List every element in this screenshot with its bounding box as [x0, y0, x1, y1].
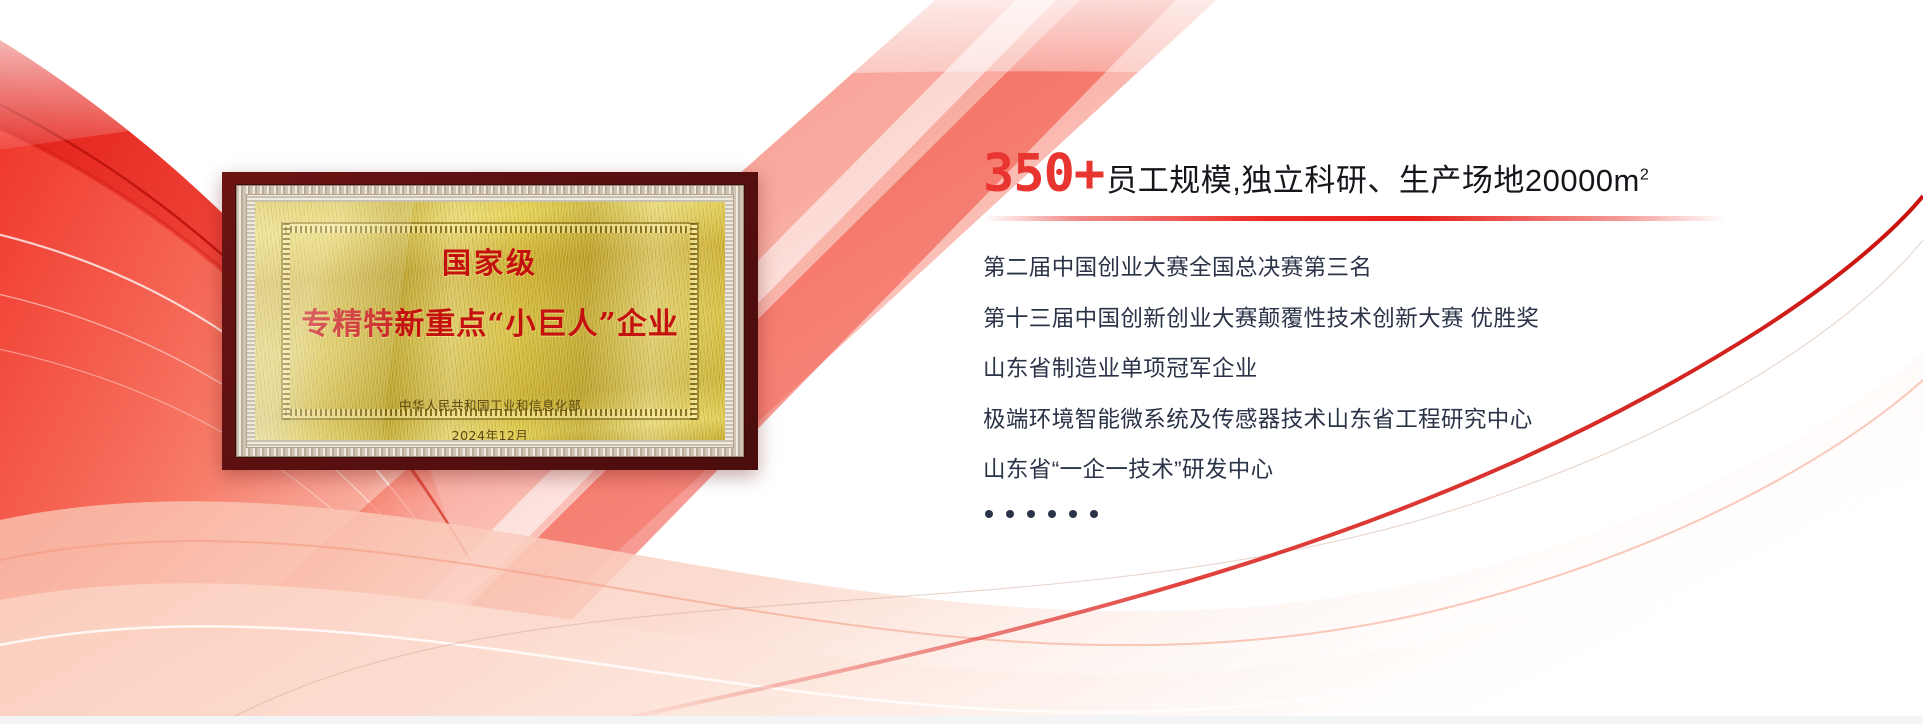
list-item: 第十三届中国创新创业大赛颠覆性技术创新大赛 优胜奖 [983, 308, 1843, 331]
plaque-gold-plate: 国家级 专精特新重点“小巨人”企业 中华人民共和国工业和信息化部 2024年12… [255, 202, 725, 440]
plaque-subtitle: 专精特新重点“小巨人”企业 [301, 299, 679, 343]
headline-text: 员工规模,独立科研、生产场地20000m2 [1106, 165, 1649, 196]
headline-underline [983, 216, 1725, 221]
plaque-ornate-border-left [283, 222, 290, 420]
ellipsis-dot [1048, 510, 1056, 518]
headline-superscript: 2 [1640, 166, 1649, 184]
plaque-reflection [222, 472, 758, 580]
award-plaque: 国家级 专精特新重点“小巨人”企业 中华人民共和国工业和信息化部 2024年12… [222, 172, 758, 470]
list-item: 山东省制造业单项冠军企业 [983, 358, 1843, 381]
plaque-title: 国家级 [442, 240, 538, 282]
list-item: 第二届中国创业大赛全国总决赛第三名 [983, 257, 1843, 280]
promotional-banner: 国家级 专精特新重点“小巨人”企业 中华人民共和国工业和信息化部 2024年12… [0, 0, 1923, 724]
awards-list: 第二届中国创业大赛全国总决赛第三名 第十三届中国创新创业大赛颠覆性技术创新大赛 … [983, 257, 1843, 518]
ellipsis-dot [1069, 510, 1077, 518]
ellipsis-dot [1090, 510, 1098, 518]
plaque-frame-outer: 国家级 专精特新重点“小巨人”企业 中华人民共和国工业和信息化部 2024年12… [236, 185, 744, 457]
ellipsis-dot [1027, 510, 1035, 518]
headline-text-body: 员工规模,独立科研、生产场地20000m [1106, 163, 1640, 198]
plaque-issuer: 中华人民共和国工业和信息化部 [399, 395, 581, 414]
plaque-date: 2024年12月 [452, 425, 529, 440]
ellipsis-dot [1006, 510, 1014, 518]
list-item: 山东省“一企一技术”研发中心 [983, 459, 1843, 482]
list-item: 极端环境智能微系统及传感器技术山东省工程研究中心 [983, 409, 1843, 432]
ellipsis-dot [985, 510, 993, 518]
headline: 350+ 员工规模,独立科研、生产场地20000m2 [983, 148, 1843, 200]
content-column: 350+ 员工规模,独立科研、生产场地20000m2 第二届中国创业大赛全国总决… [983, 148, 1843, 518]
headline-number: 350+ [983, 148, 1104, 200]
plaque-frame-inner: 国家级 专精特新重点“小巨人”企业 中华人民共和国工业和信息化部 2024年12… [246, 194, 734, 448]
awards-more-ellipsis [983, 510, 1843, 518]
